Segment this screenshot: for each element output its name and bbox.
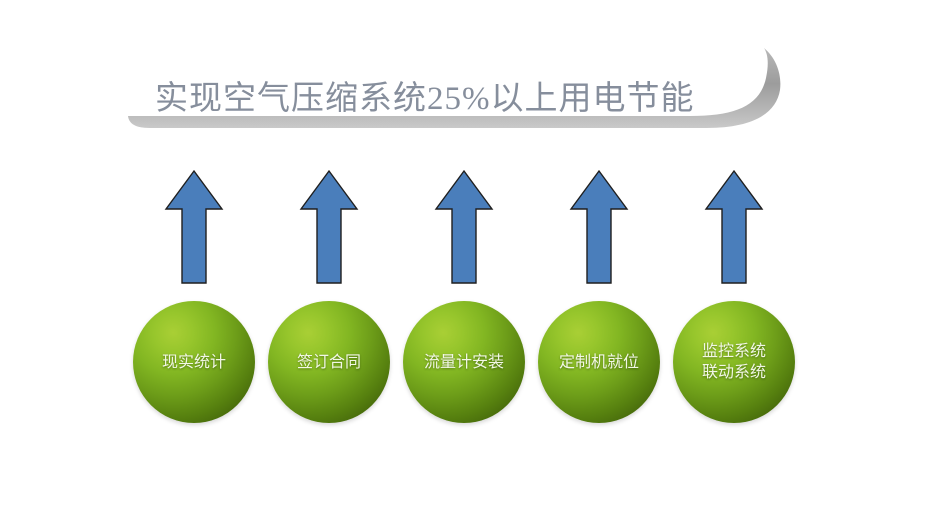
process-step-3[interactable]: 流量计安装 xyxy=(403,301,525,423)
up-arrow-icon xyxy=(299,168,359,286)
step-label: 现实统计 xyxy=(133,301,255,423)
step-label: 监控系统 联动系统 xyxy=(673,301,795,423)
process-step-2[interactable]: 签订合同 xyxy=(268,301,390,423)
up-arrow-icon xyxy=(434,168,494,286)
title-banner: 实现空气压缩系统25%以上用电节能 xyxy=(0,28,945,148)
arrow-slot-1 xyxy=(133,168,255,290)
up-arrow-icon xyxy=(569,168,629,286)
process-steps-row: 现实统计 签订合同 流量计安装 定制机就位 xyxy=(133,301,795,423)
arrow-slot-4 xyxy=(538,168,660,290)
arrows-row xyxy=(133,168,795,290)
up-arrow-icon xyxy=(704,168,764,286)
step-label-line2: 联动系统 xyxy=(702,362,766,383)
process-step-5[interactable]: 监控系统 联动系统 xyxy=(673,301,795,423)
step-label: 流量计安装 xyxy=(403,301,525,423)
step-label-line1: 监控系统 xyxy=(702,341,766,362)
page-title: 实现空气压缩系统25%以上用电节能 xyxy=(155,76,755,126)
step-label-line1: 定制机就位 xyxy=(559,352,639,373)
up-arrow-icon xyxy=(164,168,224,286)
process-step-1[interactable]: 现实统计 xyxy=(133,301,255,423)
step-label-line1: 流量计安装 xyxy=(424,352,504,373)
step-label: 签订合同 xyxy=(268,301,390,423)
slide-canvas: 实现空气压缩系统25%以上用电节能 xyxy=(0,0,945,529)
step-label-line1: 签订合同 xyxy=(297,352,361,373)
arrow-slot-3 xyxy=(403,168,525,290)
arrow-slot-2 xyxy=(268,168,390,290)
arrow-slot-5 xyxy=(673,168,795,290)
step-label-line1: 现实统计 xyxy=(162,352,226,373)
process-step-4[interactable]: 定制机就位 xyxy=(538,301,660,423)
step-label: 定制机就位 xyxy=(538,301,660,423)
